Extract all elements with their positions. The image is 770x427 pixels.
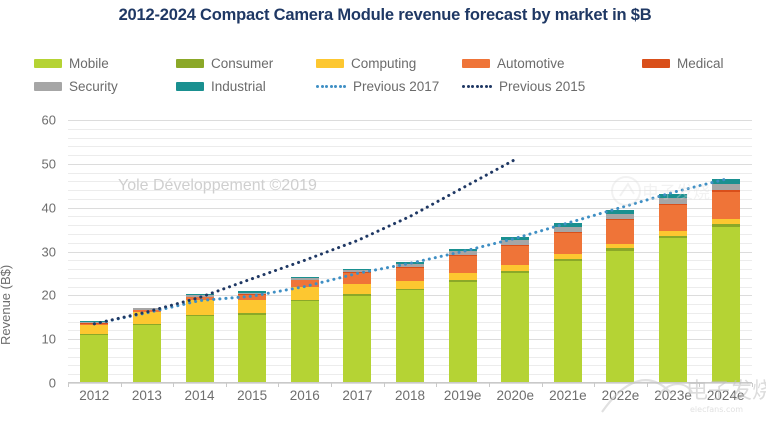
y-axis-tick-label: 40 xyxy=(42,200,56,215)
legend-item-automotive[interactable]: Automotive xyxy=(462,57,565,71)
legend-row: MobileConsumerComputingAutomotiveMedical xyxy=(34,52,744,75)
x-axis-tick-label: 2021e xyxy=(549,388,587,403)
yole-watermark: Yole Développement ©2019 xyxy=(118,177,317,195)
reference-line-previous-2017 xyxy=(94,179,725,324)
x-axis-tick-label: 2013 xyxy=(132,388,162,403)
legend-label: Mobile xyxy=(69,57,109,71)
legend-swatch-icon xyxy=(316,59,344,68)
x-axis-tick xyxy=(542,383,543,387)
reference-lines-group xyxy=(68,120,752,383)
x-axis-tick xyxy=(68,383,69,387)
x-axis-labels: 20122013201420152016201720182019e2020e20… xyxy=(68,388,752,412)
legend-swatch-icon xyxy=(176,59,204,68)
x-axis-tick xyxy=(752,383,753,387)
x-axis-tick xyxy=(647,383,648,387)
legend-label: Industrial xyxy=(211,80,266,94)
y-axis-tick-label: 0 xyxy=(49,376,56,391)
legend-label: Security xyxy=(69,80,118,94)
y-axis-tick-label: 30 xyxy=(42,244,56,259)
legend-label: Computing xyxy=(351,57,416,71)
legend-item-consumer[interactable]: Consumer xyxy=(176,57,273,71)
x-axis-tick-label: 2012 xyxy=(79,388,109,403)
x-axis-tick xyxy=(331,383,332,387)
legend-swatch-icon xyxy=(642,59,670,68)
x-axis-tick xyxy=(489,383,490,387)
y-axis-tick-label: 20 xyxy=(42,288,56,303)
legend-item-previous-2015[interactable]: Previous 2015 xyxy=(462,80,585,94)
y-axis-tick-label: 10 xyxy=(42,332,56,347)
x-axis-line xyxy=(68,382,752,383)
legend-label: Automotive xyxy=(497,57,565,71)
legend-swatch-icon xyxy=(34,82,62,91)
x-axis-tick-label: 2018 xyxy=(395,388,425,403)
x-axis-tick-label: 2023e xyxy=(654,388,692,403)
y-axis-tick-label: 50 xyxy=(42,156,56,171)
x-axis-tick xyxy=(278,383,279,387)
legend-dotted-line-icon xyxy=(462,85,492,88)
plot-area xyxy=(68,120,752,383)
chart-legend: MobileConsumerComputingAutomotiveMedical… xyxy=(34,52,744,98)
y-axis-title: Revenue (B$) xyxy=(0,265,13,345)
legend-item-medical[interactable]: Medical xyxy=(642,57,724,71)
legend-swatch-icon xyxy=(34,59,62,68)
legend-swatch-icon xyxy=(462,59,490,68)
legend-item-mobile[interactable]: Mobile xyxy=(34,57,109,71)
x-axis-tick xyxy=(173,383,174,387)
legend-label: Consumer xyxy=(211,57,273,71)
chart-container: 2012-2024 Compact Camera Module revenue … xyxy=(0,0,770,427)
x-axis-tick-label: 2016 xyxy=(290,388,320,403)
gridline xyxy=(68,383,752,384)
x-axis-tick-label: 2020e xyxy=(496,388,534,403)
x-axis-tick xyxy=(436,383,437,387)
legend-row: SecurityIndustrialPrevious 2017Previous … xyxy=(34,75,744,98)
chart-title: 2012-2024 Compact Camera Module revenue … xyxy=(0,6,770,25)
x-axis-tick-label: 2014 xyxy=(185,388,215,403)
x-axis-tick xyxy=(226,383,227,387)
y-axis-tick-label: 60 xyxy=(42,113,56,128)
legend-item-security[interactable]: Security xyxy=(34,80,118,94)
x-axis-tick xyxy=(121,383,122,387)
x-axis-tick-label: 2017 xyxy=(342,388,372,403)
legend-label: Previous 2017 xyxy=(353,80,439,94)
legend-swatch-icon xyxy=(176,82,204,91)
legend-dotted-line-icon xyxy=(316,85,346,88)
x-axis-tick-label: 2022e xyxy=(602,388,640,403)
x-axis-tick xyxy=(384,383,385,387)
x-axis-tick-label: 2024e xyxy=(707,388,745,403)
y-axis-labels: Revenue (B$) 0102030405060 xyxy=(0,120,64,383)
x-axis-tick xyxy=(699,383,700,387)
x-axis-tick-label: 2015 xyxy=(237,388,267,403)
x-axis-tick-label: 2019e xyxy=(444,388,482,403)
legend-label: Medical xyxy=(677,57,724,71)
legend-item-industrial[interactable]: Industrial xyxy=(176,80,266,94)
legend-item-previous-2017[interactable]: Previous 2017 xyxy=(316,80,439,94)
legend-label: Previous 2015 xyxy=(499,80,585,94)
x-axis-tick xyxy=(594,383,595,387)
legend-item-computing[interactable]: Computing xyxy=(316,57,416,71)
